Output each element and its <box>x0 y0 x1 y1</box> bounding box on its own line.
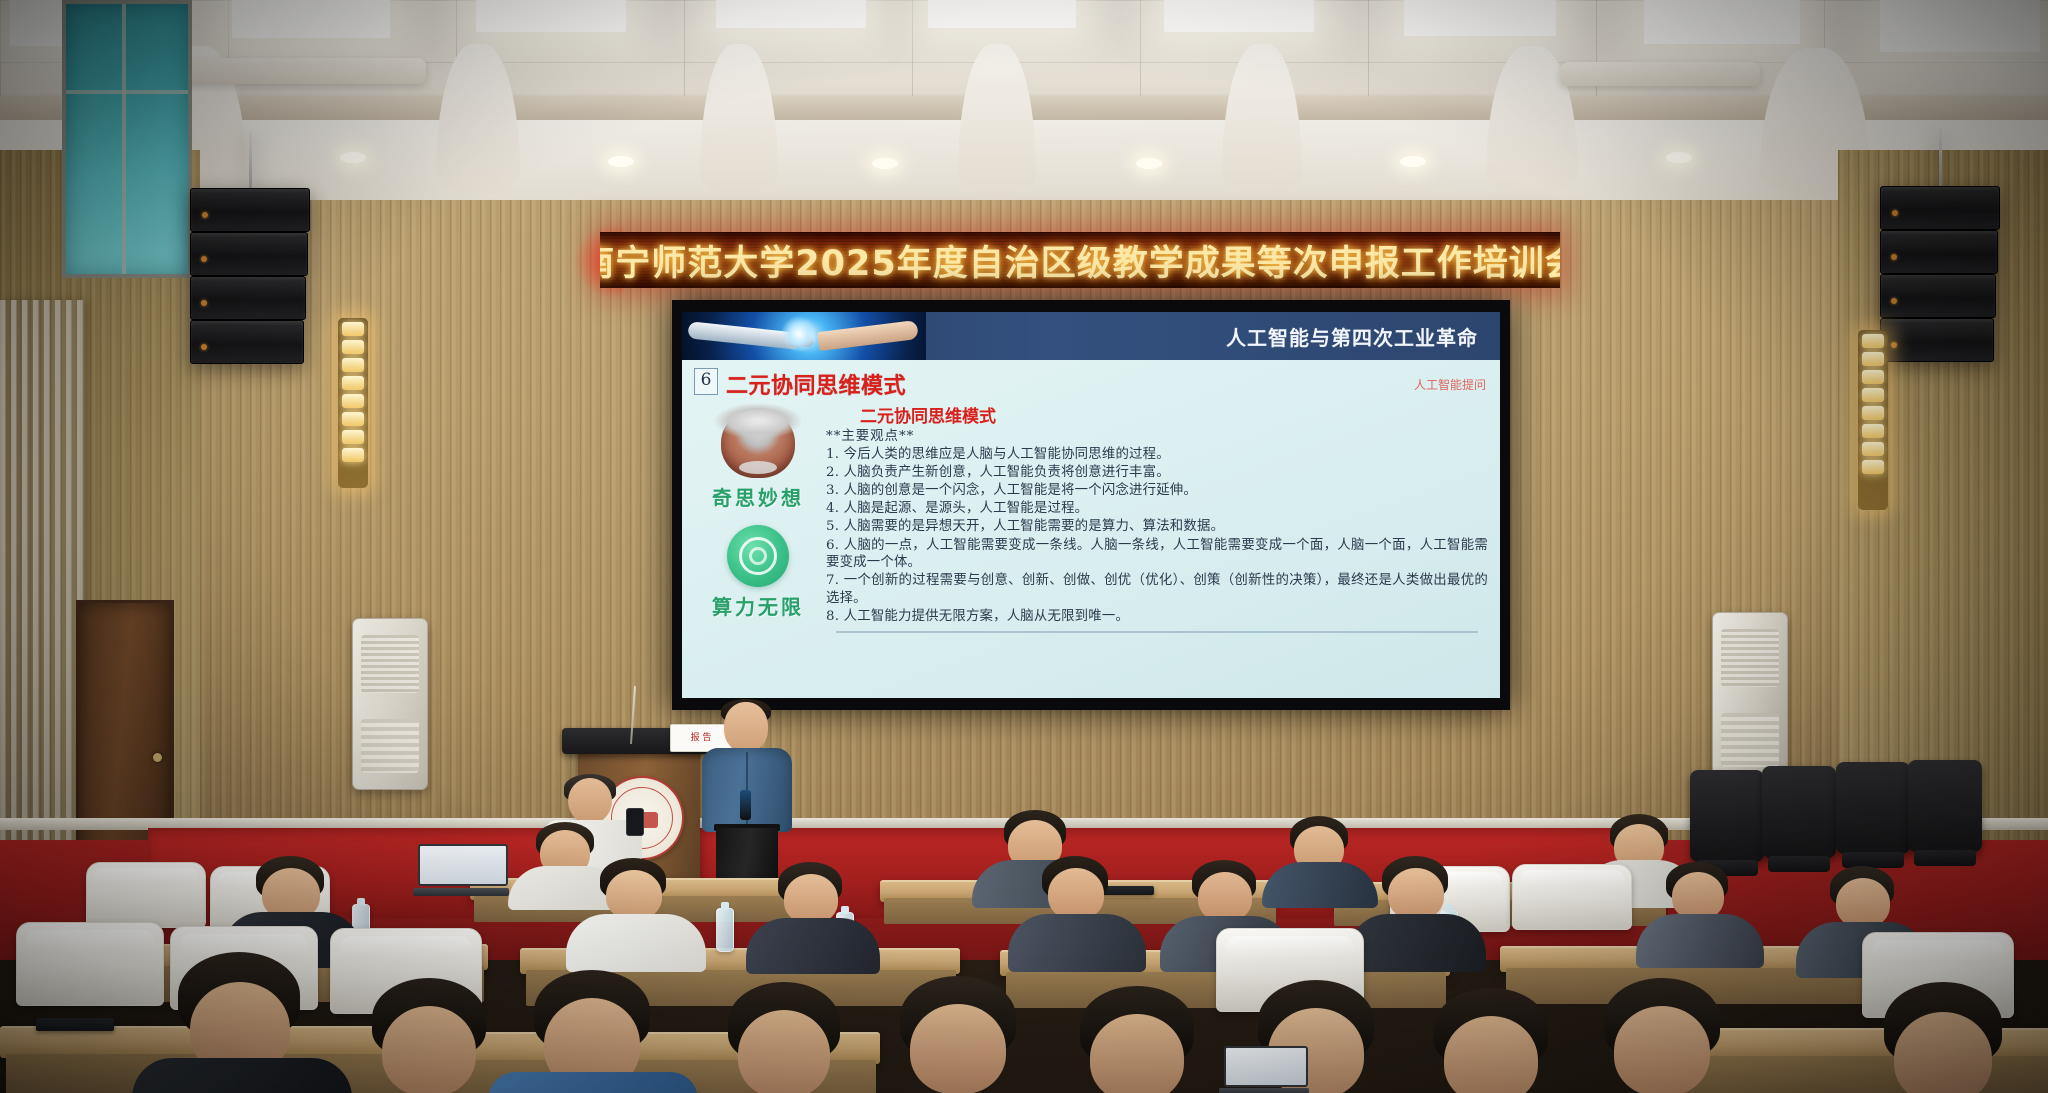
ceiling-panel-light <box>1880 0 2040 52</box>
head <box>1672 872 1724 920</box>
air-conditioner-cabinet <box>352 618 428 790</box>
led-banner: 南宁师范大学2025年度自治区级教学成果等次申报工作培训会 <box>600 232 1560 288</box>
shoulders <box>488 1072 698 1093</box>
slide-point: 8. 人工智能力提供无限方案，人脑从无限到唯一。 <box>826 608 1488 626</box>
recessed-downlight <box>1666 152 1692 163</box>
head <box>1836 878 1890 928</box>
water-bottle <box>716 908 734 952</box>
audience-chair[interactable] <box>16 922 164 1006</box>
head <box>606 870 662 920</box>
slide-header-title: 人工智能与第四次工业革命 <box>926 322 1500 351</box>
ceiling-panel-light <box>716 0 866 28</box>
slide-divider <box>836 631 1478 633</box>
slide-left-illustrations: 奇思妙想 算力无限 <box>694 402 822 633</box>
ceiling-panel-light <box>928 0 1076 28</box>
ceiling-panel-light <box>232 0 390 38</box>
slide-header: 人工智能与第四次工业革命 <box>682 312 1500 360</box>
wall-sconce-light <box>1858 330 1888 510</box>
shoulders <box>746 918 880 974</box>
section-title: 二元协同思维模式 <box>726 368 906 400</box>
line-array-speaker <box>1880 186 1998 362</box>
einstein-caption: 奇思妙想 <box>694 482 822 511</box>
points-heading: **主要观点** <box>826 428 1488 446</box>
projection-screen: 人工智能与第四次工业革命 6 二元协同思维模式 人工智能提问 奇思妙想 算力无限 <box>672 300 1510 710</box>
laptop <box>1224 1046 1304 1093</box>
presentation-slide: 人工智能与第四次工业革命 6 二元协同思维模式 人工智能提问 奇思妙想 算力无限 <box>682 312 1500 698</box>
slide-text-column: 二元协同思维模式 **主要观点** 1. 今后人类的思维应是人脑与人工智能协同思… <box>822 402 1488 633</box>
head <box>1614 1006 1710 1093</box>
head <box>1090 1014 1184 1093</box>
shoulders <box>132 1058 352 1093</box>
einstein-portrait-icon <box>721 408 795 478</box>
compute-caption: 算力无限 <box>694 591 822 620</box>
head <box>1048 868 1104 920</box>
head <box>1198 872 1252 922</box>
laptop <box>418 844 504 896</box>
ceiling-panel-light <box>1164 0 1314 32</box>
audience-chair[interactable] <box>1512 864 1632 930</box>
human-hand-icon <box>817 320 919 351</box>
door-knob-icon <box>153 753 162 762</box>
line-array-speaker <box>190 188 308 364</box>
recessed-downlight <box>872 158 898 169</box>
head <box>738 1010 830 1093</box>
lecture-hall-photo: 南宁师范大学2025年度自治区级教学成果等次申报工作培训会 人工智能与第四次工业… <box>0 0 2048 1093</box>
shoulders <box>1636 914 1764 968</box>
spark-icon <box>781 316 817 352</box>
shoulders <box>1348 914 1486 972</box>
slide-point: 1. 今后人类的思维应是人脑与人工智能协同思维的过程。 <box>826 446 1488 464</box>
slide-point: 2. 人脑负责产生新创意，人工智能负责将创意进行丰富。 <box>826 464 1488 482</box>
slide-point: 6. 人脑的一点，人工智能需要变成一条线。人脑一条线，人工智能需要变成一个面，人… <box>826 537 1488 572</box>
shoulders <box>566 914 706 972</box>
slide-point: 5. 人脑需要的是异想天开，人工智能需要的是算力、算法和数据。 <box>826 518 1488 536</box>
openai-knot-logo-icon <box>727 525 789 587</box>
section-number-badge: 6 <box>694 368 718 395</box>
slide-subtitle: 二元协同思维模式 <box>826 402 1488 427</box>
slide-columns: 奇思妙想 算力无限 二元协同思维模式 **主要观点** 1. 今后人类的思维应是… <box>682 400 1500 633</box>
shoulders <box>1008 914 1146 972</box>
speaker-chain <box>1939 128 1942 186</box>
recessed-downlight <box>1400 156 1426 167</box>
slide-point: 3. 人脑的创意是一个闪念，人工智能是将一个闪念进行延伸。 <box>826 482 1488 500</box>
recessed-downlight <box>608 156 634 167</box>
recessed-downlight <box>1136 158 1162 169</box>
head <box>1388 868 1444 920</box>
slide-point: 4. 人脑是起源、是源头，人工智能是过程。 <box>826 500 1488 518</box>
robot-human-hands-image <box>682 312 926 360</box>
notebook <box>36 1018 114 1031</box>
ceiling-panel-light <box>1644 0 1800 44</box>
slide-section-line: 6 二元协同思维模式 人工智能提问 <box>682 366 1500 400</box>
head <box>910 1004 1006 1093</box>
ceiling-air-duct <box>186 58 426 84</box>
ceiling-panel-light <box>1404 0 1556 36</box>
recessed-downlight <box>340 152 366 163</box>
ai-prompt-tag: 人工智能提问 <box>1414 368 1486 393</box>
led-banner-text: 南宁师范大学2025年度自治区级教学成果等次申报工作培训会 <box>600 235 1560 286</box>
audience-chair[interactable] <box>86 862 206 928</box>
ceiling-panel-light <box>476 0 626 32</box>
slide-points-list: **主要观点** 1. 今后人类的思维应是人脑与人工智能协同思维的过程。 2. … <box>826 428 1488 626</box>
slide-body: 6 二元协同思维模式 人工智能提问 奇思妙想 算力无限 二元协同思维模式 <box>682 360 1500 698</box>
ceiling <box>0 0 2048 215</box>
window <box>62 0 192 278</box>
speaker-chain <box>249 130 252 188</box>
ceiling-air-duct <box>1560 62 1760 86</box>
air-conditioner-cabinet <box>1712 612 1788 784</box>
audience-seating-area <box>0 800 2048 1093</box>
head <box>724 702 768 752</box>
slide-point: 7. 一个创新的过程需要与创意、创新、创做、创优（优化）、创策（创新性的决策），… <box>826 572 1488 607</box>
head <box>784 874 838 924</box>
wall-sconce-light <box>338 318 368 488</box>
shoulders <box>1262 862 1378 908</box>
head <box>382 1006 476 1093</box>
